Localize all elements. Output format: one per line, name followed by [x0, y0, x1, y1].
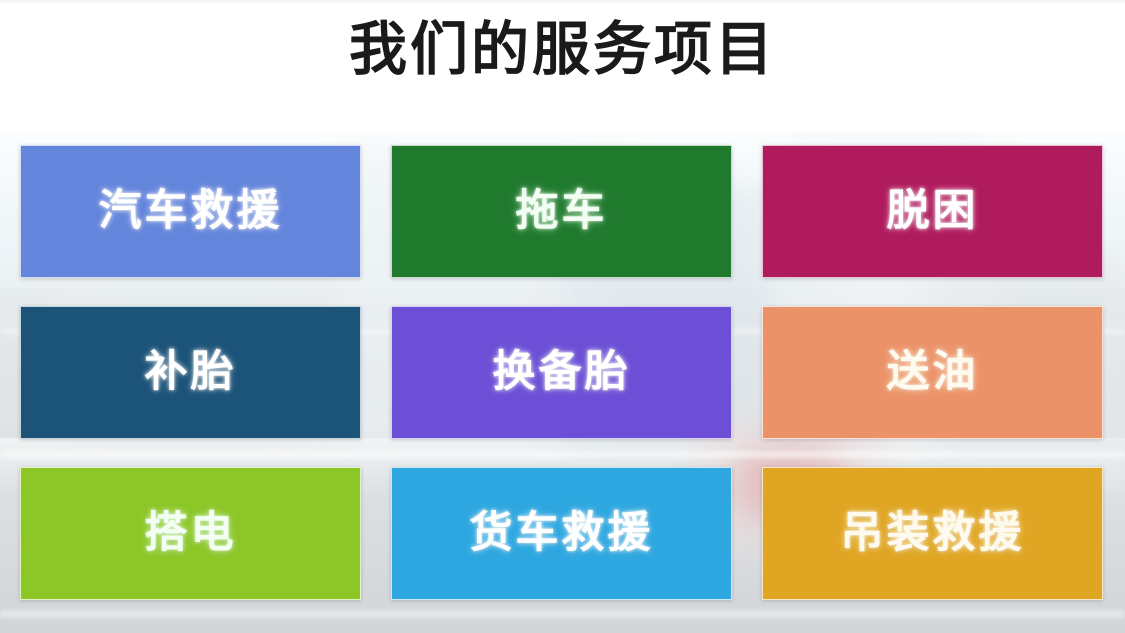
- service-card-label: 送油: [887, 351, 979, 394]
- service-card-label: 补胎: [145, 351, 237, 394]
- service-poster: 我们的服务项目 汽车救援 拖车 脱困 补胎 换备胎 送油 搭电 货车救援 吊装救…: [0, 0, 1125, 633]
- service-card-songyou[interactable]: 送油: [762, 306, 1103, 439]
- service-card-tuokun[interactable]: 脱困: [762, 145, 1103, 278]
- service-card-label: 拖车: [516, 190, 608, 233]
- background-highlight-streak: [0, 612, 1125, 616]
- service-card-dadian[interactable]: 搭电: [20, 467, 361, 600]
- service-card-diaozhuangjiuyuan[interactable]: 吊装救援: [762, 467, 1103, 600]
- service-card-huanbeitai[interactable]: 换备胎: [391, 306, 732, 439]
- page-title-container: 我们的服务项目: [0, 18, 1125, 81]
- service-card-label: 搭电: [145, 512, 237, 555]
- service-card-label: 汽车救援: [99, 190, 283, 233]
- top-hairline-divider: [0, 0, 1125, 4]
- service-card-label: 换备胎: [493, 351, 631, 394]
- service-card-huochejiuyuan[interactable]: 货车救援: [391, 467, 732, 600]
- service-card-butai[interactable]: 补胎: [20, 306, 361, 439]
- service-card-tuoche[interactable]: 拖车: [391, 145, 732, 278]
- service-card-label: 脱困: [887, 190, 979, 233]
- service-grid: 汽车救援 拖车 脱困 补胎 换备胎 送油 搭电 货车救援 吊装救援: [20, 145, 1103, 601]
- service-card-label: 货车救援: [470, 512, 654, 555]
- service-card-qichejiuyuan[interactable]: 汽车救援: [20, 145, 361, 278]
- page-title: 我们的服务项目: [349, 18, 776, 81]
- service-card-label: 吊装救援: [841, 512, 1025, 555]
